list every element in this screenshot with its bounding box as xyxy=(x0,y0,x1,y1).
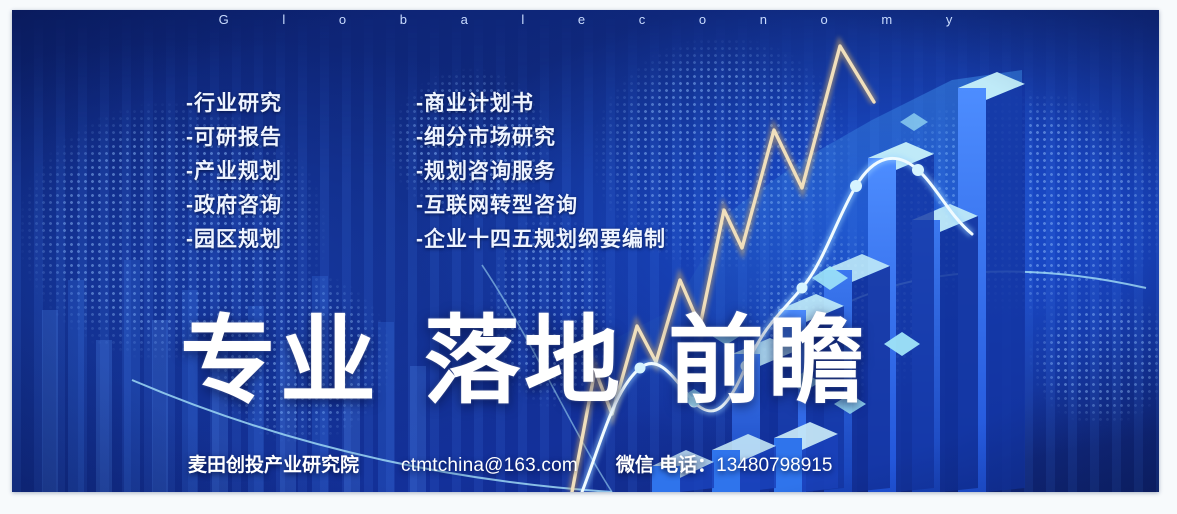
organization-name: 麦田创投产业研究院 xyxy=(188,455,359,476)
service-list-right: -商业计划书 -细分市场研究 -规划咨询服务 -互联网转型咨询 -企业十四五规划… xyxy=(416,89,666,259)
email-address[interactable]: ctmtchina@163.com xyxy=(401,455,578,476)
phone-number[interactable]: 13480798915 xyxy=(716,455,832,476)
service-item: -可研报告 xyxy=(186,123,282,153)
promotional-banner: G l o b a l e c o n o m y -行业研究 -可研报告 -产… xyxy=(12,10,1159,492)
headline-word-2: 落地 xyxy=(424,308,624,415)
service-item: -细分市场研究 xyxy=(416,123,666,153)
contact-label: 微信 电话： xyxy=(616,455,716,476)
headline-slogan: 专业落地前瞻 xyxy=(180,308,868,416)
service-item: -行业研究 xyxy=(186,89,282,119)
footer-contact-bar: 麦田创投产业研究院ctmtchina@163.com微信 电话：13480798… xyxy=(188,450,832,477)
service-list-left: -行业研究 -可研报告 -产业规划 -政府咨询 -园区规划 xyxy=(186,89,282,259)
headline-word-3: 前瞻 xyxy=(668,308,868,415)
service-item: -商业计划书 xyxy=(416,89,666,119)
service-item: -园区规划 xyxy=(186,225,282,255)
service-item: -产业规划 xyxy=(186,157,282,187)
kicker-global-economy: G l o b a l e c o n o m y xyxy=(12,12,1159,27)
service-item: -规划咨询服务 xyxy=(416,157,666,187)
service-item: -互联网转型咨询 xyxy=(416,191,666,221)
service-item: -政府咨询 xyxy=(186,191,282,221)
service-item: -企业十四五规划纲要编制 xyxy=(416,225,666,255)
headline-word-1: 专业 xyxy=(180,308,380,415)
